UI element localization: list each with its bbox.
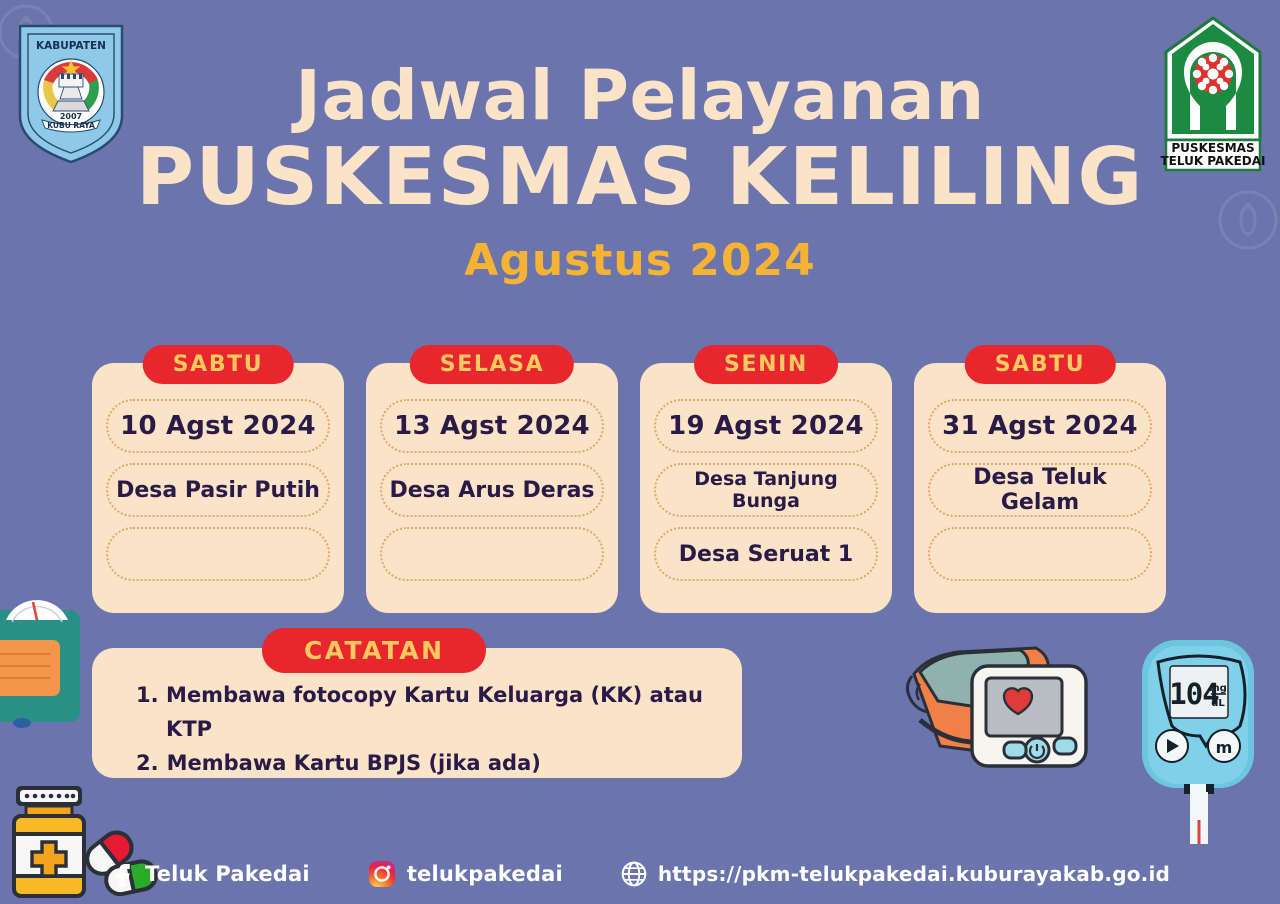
glucometer-reading: 104 <box>1169 677 1219 711</box>
day-badge: SABTU <box>965 345 1116 384</box>
page-title-line2: PUSKESMAS KELILING <box>0 133 1280 221</box>
facebook-icon <box>110 861 134 887</box>
date-slot: 19 Agst 2024 <box>654 399 878 453</box>
weight-scale-illustration <box>0 596 102 756</box>
note-number: 1. <box>136 678 158 746</box>
instagram-icon <box>368 860 396 888</box>
glucometer-unit-top: mg <box>1209 683 1227 694</box>
glucometer-illustration: 104 mg dL m <box>1132 634 1268 850</box>
facebook-handle-text: Teluk Pakedai <box>145 862 310 886</box>
village-slot-empty <box>380 527 604 581</box>
village-slot: Desa Seruat 1 <box>654 527 878 581</box>
instagram-handle-text: telukpakedai <box>407 862 563 886</box>
schedule-card-list: SABTU 10 Agst 2024 Desa Pasir Putih SELA… <box>92 363 1188 613</box>
globe-icon <box>621 861 647 887</box>
website-url-text: https://pkm-telukpakedai.kuburayakab.go.… <box>658 862 1170 886</box>
village-slot-empty <box>928 527 1152 581</box>
village-slot: Desa Teluk Gelam <box>928 463 1152 517</box>
page-title-line1: Jadwal Pelayanan <box>0 62 1280 131</box>
svg-text:m: m <box>1216 738 1233 757</box>
glucometer-unit-bottom: dL <box>1211 698 1225 709</box>
instagram-handle[interactable]: telukpakedai <box>368 860 563 888</box>
date-slot: 31 Agst 2024 <box>928 399 1152 453</box>
poster-header: Jadwal Pelayanan PUSKESMAS KELILING Agus… <box>0 62 1280 286</box>
website-link[interactable]: https://pkm-telukpakedai.kuburayakab.go.… <box>621 861 1170 887</box>
notes-panel: CATATAN 1. Membawa fotocopy Kartu Keluar… <box>92 648 742 778</box>
blood-pressure-monitor-illustration <box>894 632 1092 818</box>
poster-footer: Teluk Pakedai telukpakedai <box>0 860 1280 888</box>
note-text: Membawa fotocopy Kartu Keluarga (KK) ata… <box>166 678 742 746</box>
date-slot: 13 Agst 2024 <box>380 399 604 453</box>
village-slot: Desa Arus Deras <box>380 463 604 517</box>
notes-badge: CATATAN <box>262 628 486 673</box>
schedule-card: SENIN 19 Agst 2024 Desa Tanjung Bunga De… <box>640 363 892 613</box>
village-slot-empty <box>106 527 330 581</box>
day-badge: SELASA <box>410 345 574 384</box>
facebook-handle[interactable]: Teluk Pakedai <box>110 861 310 887</box>
note-item: 1. Membawa fotocopy Kartu Keluarga (KK) … <box>136 678 742 746</box>
notes-list: 1. Membawa fotocopy Kartu Keluarga (KK) … <box>136 678 742 780</box>
day-badge: SABTU <box>143 345 294 384</box>
note-number: 2. <box>136 746 159 780</box>
page-subtitle-month: Agustus 2024 <box>0 235 1280 286</box>
date-slot: 10 Agst 2024 <box>106 399 330 453</box>
note-text: Membawa Kartu BPJS (jika ada) <box>167 746 541 780</box>
schedule-card: SABTU 31 Agst 2024 Desa Teluk Gelam <box>914 363 1166 613</box>
schedule-card: SABTU 10 Agst 2024 Desa Pasir Putih <box>92 363 344 613</box>
day-badge: SENIN <box>694 345 838 384</box>
schedule-card: SELASA 13 Agst 2024 Desa Arus Deras <box>366 363 618 613</box>
crest-top-text: KABUPATEN <box>36 40 106 52</box>
village-slot: Desa Tanjung Bunga <box>654 463 878 517</box>
village-slot: Desa Pasir Putih <box>106 463 330 517</box>
poster-canvas: KABUPATEN 2007 KUBU RAYA <box>0 0 1280 904</box>
note-item: 2. Membawa Kartu BPJS (jika ada) <box>136 746 742 780</box>
